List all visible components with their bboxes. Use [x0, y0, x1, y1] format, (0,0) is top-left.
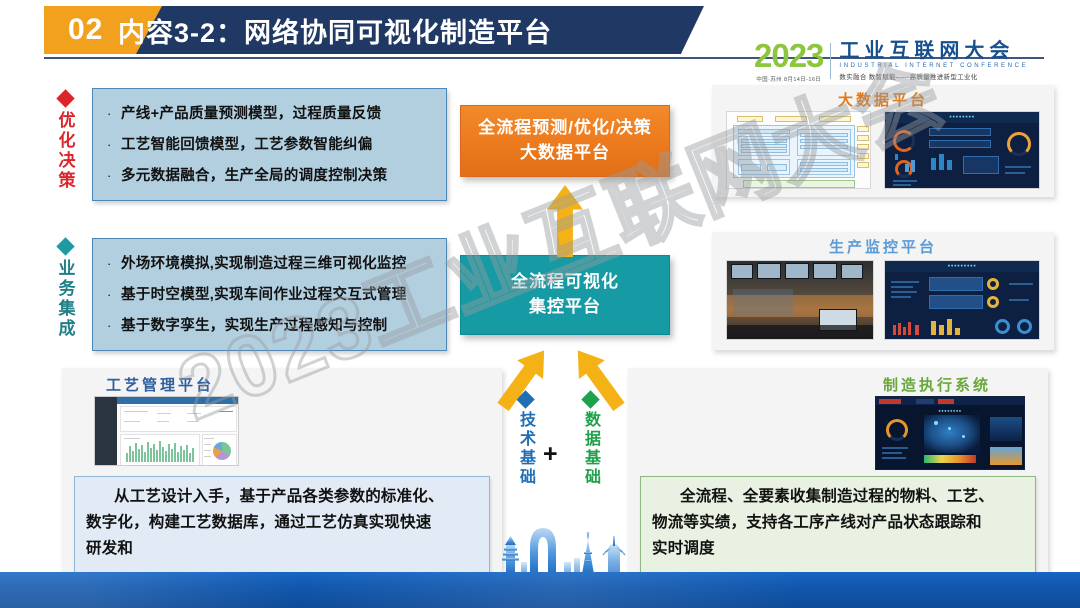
- bigdata-dashboard-screenshot: ●●●●●●●●: [884, 111, 1040, 189]
- label-data-foundation: 数据基础: [578, 393, 602, 487]
- bullet-text: 产线+产品质量预测模型，过程质量反馈: [121, 104, 381, 124]
- description-line: 从工艺设计入手，基于产品各类参数的标准化、: [86, 484, 478, 510]
- bullet-box-optimization: · 产线+产品质量预测模型，过程质量反馈 · 工艺智能回馈模型，工艺参数智能纠偏…: [92, 88, 447, 201]
- label-data-text: 数据基础: [582, 411, 598, 487]
- label-business-text: 业务集成: [57, 259, 74, 339]
- diamond-icon: [56, 89, 74, 107]
- page-title: 内容3-2：网络协同可视化制造平台: [118, 6, 552, 54]
- logo-year: 2023: [754, 39, 823, 72]
- flow-box-bigdata-platform[interactable]: 全流程预测/优化/决策 大数据平台: [460, 105, 670, 177]
- plus-sign: +: [543, 440, 558, 469]
- list-item: · 产线+产品质量预测模型，过程质量反馈: [107, 104, 436, 124]
- list-item: · 多元数据融合，生产全局的调度控制决策: [107, 166, 436, 186]
- bullet-icon: ·: [107, 135, 121, 155]
- panel-mes: 制造执行系统 ●●●●●●●● 全流程、全要素收集制造过程的物料、工艺、 物流等…: [628, 368, 1048, 586]
- monitoring-dashboard-screenshot: ●●●●●●●●●: [884, 260, 1040, 340]
- flow-box-visual-control-platform[interactable]: 全流程可视化 集控平台: [460, 255, 670, 335]
- description-line: 实时调度: [652, 536, 1024, 562]
- list-item: · 外场环境模拟,实现制造过程三维可视化监控: [107, 254, 436, 274]
- diamond-icon: [56, 237, 74, 255]
- bullet-text: 基于时空模型,实现车间作业过程交互式管理: [121, 285, 407, 305]
- bullet-icon: ·: [107, 316, 121, 336]
- panel-craft-title: 工艺管理平台: [106, 374, 214, 395]
- architecture-diagram-screenshot: [726, 111, 871, 189]
- panel-production-monitoring: 生产监控平台 ●●●●●●●●●: [712, 232, 1054, 350]
- panel-bigdata-platform: 大数据平台: [712, 85, 1054, 197]
- list-item: · 工艺智能回馈模型，工艺参数智能纠偏: [107, 135, 436, 155]
- logo-year-block: 2023 中国·苏州 8月14日-16日: [754, 39, 830, 83]
- flow-box-bigdata-line1: 全流程预测/优化/决策: [478, 116, 651, 141]
- flow-box-visual-line2: 集控平台: [511, 295, 619, 320]
- description-mes: 全流程、全要素收集制造过程的物料、工艺、 物流等实绩，支持各工序产线对产品状态跟…: [640, 476, 1036, 576]
- bullet-text: 多元数据融合，生产全局的调度控制决策: [121, 166, 387, 186]
- label-business-integration: 业务集成: [48, 240, 82, 339]
- city-skyline-icon: [490, 522, 650, 574]
- list-item: · 基于时空模型,实现车间作业过程交互式管理: [107, 285, 436, 305]
- bottom-band: [0, 572, 1080, 608]
- diamond-icon: [581, 390, 599, 408]
- logo-divider: [830, 43, 831, 79]
- label-tech-text: 技术基础: [517, 411, 533, 487]
- description-craft: 从工艺设计入手，基于产品各类参数的标准化、 数字化，构建工艺数据库，通过工艺仿真…: [74, 476, 490, 576]
- label-optimization-decision: 优化决策: [48, 92, 82, 191]
- description-line: 物流等实绩，支持各工序产线对产品状态跟踪和: [652, 510, 1024, 536]
- conference-logo: 2023 中国·苏州 8月14日-16日 工业互联网大会 INDUSTRIAL …: [754, 36, 1072, 86]
- bullet-text: 基于数字孪生，实现生产过程感知与控制: [121, 316, 387, 336]
- arrow-up-icon: [547, 185, 583, 257]
- logo-name-cn: 工业互联网大会: [839, 41, 1028, 62]
- craft-management-screenshot: [94, 396, 239, 466]
- logo-name-block: 工业互联网大会 INDUSTRIAL INTERNET CONFERENCE 数…: [839, 41, 1028, 81]
- panel-mes-title: 制造执行系统: [883, 374, 991, 395]
- list-item: · 基于数字孪生，实现生产过程感知与控制: [107, 316, 436, 336]
- panel-craft-management: 工艺管理平台: [62, 368, 502, 586]
- logo-tagline: 数实融合 数智赋能——高质量推进新型工业化: [839, 71, 1028, 81]
- bullet-icon: ·: [107, 285, 121, 305]
- flow-box-bigdata-line2: 大数据平台: [478, 141, 651, 166]
- control-room-photo: [726, 260, 874, 340]
- description-line: 全流程、全要素收集制造过程的物料、工艺、: [652, 484, 1024, 510]
- bullet-text: 外场环境模拟,实现制造过程三维可视化监控: [121, 254, 407, 274]
- flow-box-visual-line1: 全流程可视化: [511, 270, 619, 295]
- panel-monitor-title: 生产监控平台: [712, 236, 1054, 257]
- panel-bigdata-title: 大数据平台: [712, 89, 1054, 110]
- mes-dashboard-screenshot: ●●●●●●●●: [875, 396, 1025, 470]
- logo-year-subtitle: 中国·苏州 8月14日-16日: [756, 75, 821, 83]
- bullet-icon: ·: [107, 166, 121, 186]
- logo-name-en: INDUSTRIAL INTERNET CONFERENCE: [839, 63, 1028, 69]
- bullet-text: 工艺智能回馈模型，工艺参数智能纠偏: [121, 135, 373, 155]
- bullet-box-business: · 外场环境模拟,实现制造过程三维可视化监控 · 基于时空模型,实现车间作业过程…: [92, 238, 447, 351]
- slide-root: 02 内容3-2：网络协同可视化制造平台 2023 中国·苏州 8月14日-16…: [0, 0, 1080, 608]
- label-tech-foundation: 技术基础: [513, 393, 537, 487]
- bullet-icon: ·: [107, 254, 121, 274]
- description-line: 数字化，构建工艺数据库，通过工艺仿真实现快速: [86, 510, 478, 536]
- bullet-icon: ·: [107, 104, 121, 124]
- description-line: 研发和: [86, 536, 478, 562]
- label-optimization-text: 优化决策: [57, 111, 74, 191]
